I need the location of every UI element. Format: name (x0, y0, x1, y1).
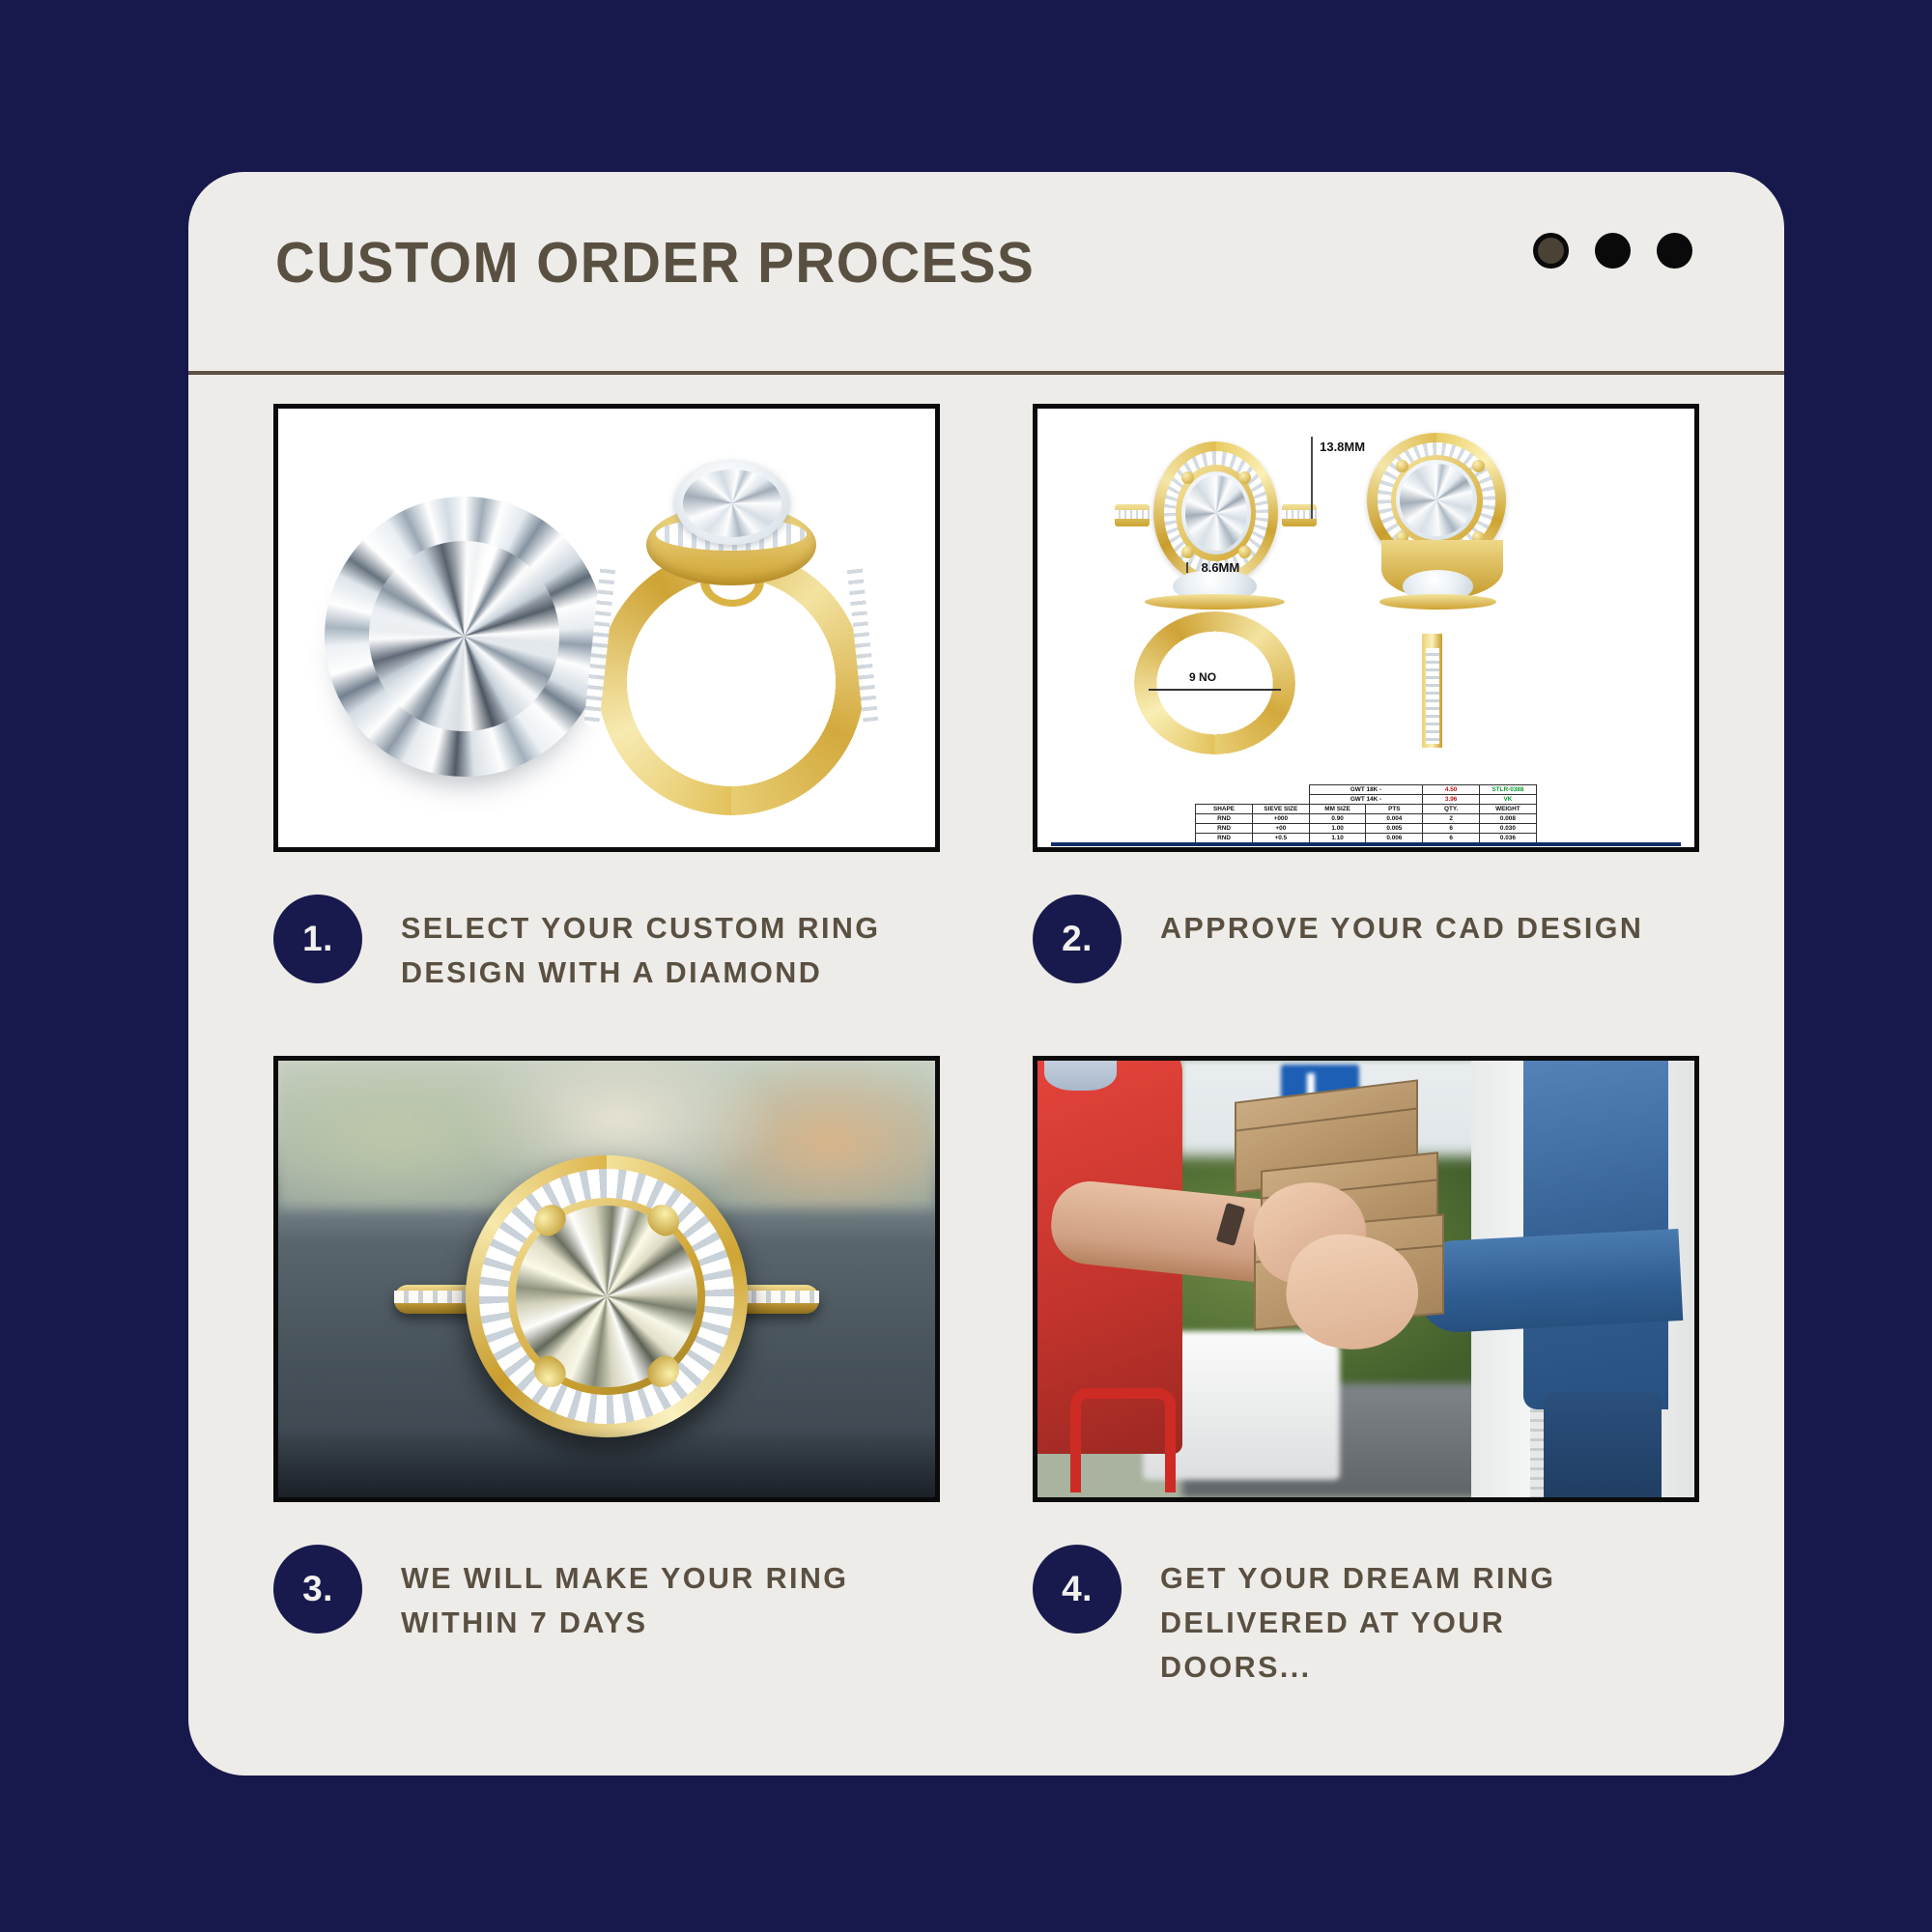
cad-gwt-14k-label: GWT 14K - (1309, 795, 1423, 805)
cad-table-row: RND +00 1.00 0.005 6 0.030 (1196, 824, 1537, 834)
cad-col-shape: SHAPE (1196, 805, 1253, 814)
step-3-badge: 3. (273, 1545, 362, 1634)
step-3-image (273, 1056, 940, 1502)
page-title: CUSTOM ORDER PROCESS (275, 230, 1035, 296)
cad-cell-pts: 0.006 (1366, 834, 1423, 843)
window-dot-3-icon[interactable] (1657, 233, 1692, 269)
step-4-badge: 4. (1033, 1545, 1122, 1634)
cad-view-profile: 9 NO (1123, 568, 1307, 752)
halo-ring-profile-icon (586, 448, 876, 815)
cad-cell-sieve: +00 (1252, 824, 1309, 834)
cad-cell-pts: 0.005 (1366, 824, 1423, 834)
header-divider (188, 371, 1784, 375)
cad-col-weight: WEIGHT (1480, 805, 1537, 814)
loose-diamond-icon (325, 497, 605, 777)
custom-order-process-card: CUSTOM ORDER PROCESS (188, 172, 1784, 1776)
step-1-label: SELECT YOUR CUSTOM RING DESIGN WITH A DI… (401, 895, 903, 996)
window-dot-1-icon[interactable] (1533, 233, 1569, 269)
cad-dimension-rule-width (1311, 437, 1313, 518)
cad-cell-weight: 0.008 (1480, 814, 1537, 824)
cad-view-side (1354, 568, 1509, 752)
step-2: 9 NO 13.8MM (1033, 404, 1699, 996)
cad-views: 9 NO 13.8MM (1077, 426, 1655, 697)
cad-gwt-18k-label: GWT 18K - (1309, 785, 1423, 795)
step-2-badge: 2. (1033, 895, 1122, 983)
cad-cell-shape: RND (1196, 834, 1253, 843)
step-1-badge: 1. (273, 895, 362, 983)
cad-cell-qty: 6 (1423, 834, 1480, 843)
cad-cell-weight: 0.036 (1480, 834, 1537, 843)
cad-table-header-row: SHAPE SIEVE SIZE MM SIZE PTS QTY. WEIGHT (1196, 805, 1537, 814)
cad-cell-qty: 6 (1423, 824, 1480, 834)
cad-col-sieve-size: SIEVE SIZE (1252, 805, 1309, 814)
step-1-image (273, 404, 940, 852)
step-4-label: GET YOUR DREAM RING DELIVERED AT YOUR DO… (1160, 1545, 1662, 1690)
cad-cell-pts: 0.004 (1366, 814, 1423, 824)
cad-dimension-width-label: 13.8MM (1320, 440, 1365, 454)
step-1-caption: 1. SELECT YOUR CUSTOM RING DESIGN WITH A… (273, 895, 940, 996)
window-dot-2-icon[interactable] (1595, 233, 1631, 269)
step-4-image (1033, 1056, 1699, 1502)
cad-dimension-rule-stone (1186, 562, 1188, 573)
cad-cell-shape: RND (1196, 814, 1253, 824)
card-header: CUSTOM ORDER PROCESS (188, 172, 1784, 386)
cad-cell-mm: 0.90 (1309, 814, 1366, 824)
cad-cell-shape: RND (1196, 824, 1253, 834)
cad-initials: VK (1480, 795, 1537, 805)
step-3-caption: 3. WE WILL MAKE YOUR RING WITHIN 7 DAYS (273, 1545, 940, 1646)
cad-table-row: RND +000 0.90 0.004 2 0.008 (1196, 814, 1537, 824)
steps-grid: 1. SELECT YOUR CUSTOM RING DESIGN WITH A… (188, 404, 1784, 1690)
cad-ring-size-label: 9 NO (1189, 670, 1216, 684)
cad-cell-sieve: +0.5 (1252, 834, 1309, 843)
cad-cell-mm: 1.10 (1309, 834, 1366, 843)
cad-cell-mm: 1.00 (1309, 824, 1366, 834)
cad-style-code: STLR-0388 (1480, 785, 1537, 795)
cad-col-mm-size: MM SIZE (1309, 805, 1366, 814)
cad-spec-table: GWT 18K - 4.50 STLR-0388 GWT 14K - 3.96 … (1195, 784, 1537, 843)
step-2-caption: 2. APPROVE YOUR CAD DESIGN (1033, 895, 1699, 983)
cad-baseline (1051, 842, 1682, 846)
cad-gwt-18k-value: 4.50 (1423, 785, 1480, 795)
step-4: 4. GET YOUR DREAM RING DELIVERED AT YOUR… (1033, 1056, 1699, 1690)
step-4-caption: 4. GET YOUR DREAM RING DELIVERED AT YOUR… (1033, 1545, 1699, 1690)
cad-col-qty: QTY. (1423, 805, 1480, 814)
step-3: 3. WE WILL MAKE YOUR RING WITHIN 7 DAYS (273, 1056, 940, 1690)
cad-cell-sieve: +000 (1252, 814, 1309, 824)
cad-cell-weight: 0.030 (1480, 824, 1537, 834)
cad-col-pts: PTS (1366, 805, 1423, 814)
step-3-label: WE WILL MAKE YOUR RING WITHIN 7 DAYS (401, 1545, 903, 1646)
step-2-label: APPROVE YOUR CAD DESIGN (1160, 895, 1643, 951)
finished-ring-icon (466, 1155, 748, 1437)
cad-dimension-stone-label: 8.6MM (1201, 560, 1239, 575)
cad-gwt-14k-value: 3.96 (1423, 795, 1480, 805)
window-dots (1533, 233, 1692, 269)
step-2-image: 9 NO 13.8MM (1033, 404, 1699, 852)
step-1: 1. SELECT YOUR CUSTOM RING DESIGN WITH A… (273, 404, 940, 996)
cad-table-row: RND +0.5 1.10 0.006 6 0.036 (1196, 834, 1537, 843)
cad-cell-qty: 2 (1423, 814, 1480, 824)
